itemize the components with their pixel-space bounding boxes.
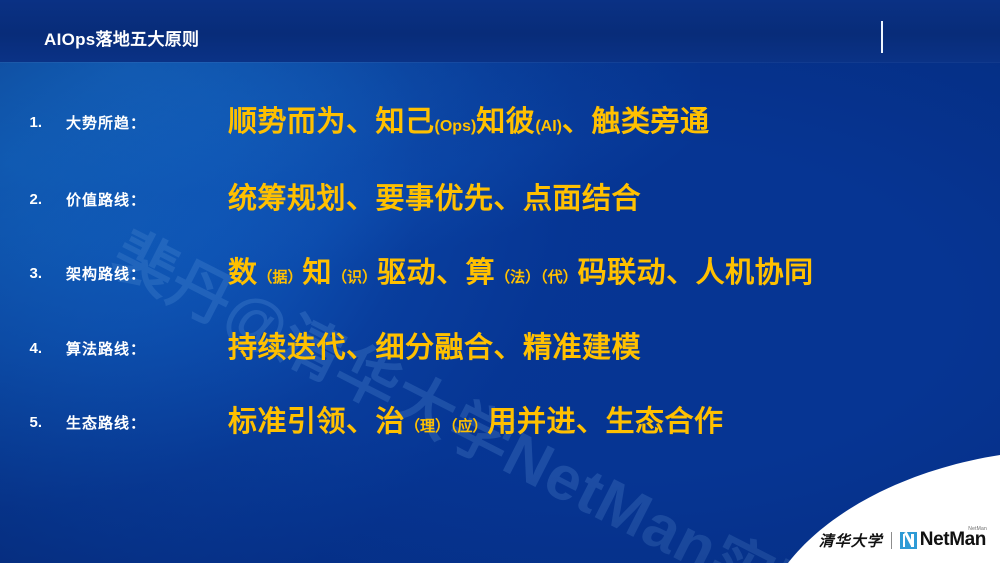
principle-value: 数（据）知（识）驱动、算（法）（代）码联动、人机协同	[228, 259, 1000, 288]
principle-value-run: （代）	[540, 269, 578, 286]
principle-value-run: (Ops)	[435, 118, 477, 135]
netman-slash-icon	[904, 531, 914, 546]
principles-list: 1. 大势所趋： 顺势而为、知己(Ops)知彼(AI)、触类旁通 2. 价值路线…	[0, 62, 1000, 482]
principle-value-run: 统筹规划、要事优先、点面结合	[228, 183, 641, 215]
slide-canvas: 裴丹@清华大学NetMan实验室 AIOps落地五大原则 1. 大势所趋： 顺势…	[0, 0, 1000, 563]
principle-value-run: （识）	[332, 269, 377, 286]
tsinghua-logo-text: 清华大学	[819, 530, 883, 551]
principle-value-run: 驱动、算	[377, 257, 495, 289]
principle-row: 5. 生态路线： 标准引领、治（理）（应）用并进、生态合作	[0, 396, 1000, 448]
netman-mark-icon	[900, 532, 917, 549]
principle-value-run: （据）	[258, 269, 303, 286]
slide-title: AIOps落地五大原则	[44, 25, 199, 50]
principle-value: 标准引领、治（理）（应）用并进、生态合作	[228, 408, 1000, 437]
principle-value: 统筹规划、要事优先、点面结合	[228, 185, 1000, 214]
principle-value-run: 标准引领、治	[228, 406, 405, 438]
principle-row: 3. 架构路线： 数（据）知（识）驱动、算（法）（代）码联动、人机协同	[0, 247, 1000, 299]
principle-number: 2.	[0, 191, 48, 208]
principle-value-run: 用并进、生态合作	[488, 406, 724, 438]
principle-label: 价值路线：	[48, 189, 228, 210]
principle-value-run: 知彼	[476, 106, 535, 138]
principle-value-run: (AI)	[535, 118, 562, 135]
principle-value-run: 、触类旁通	[562, 106, 710, 138]
principle-value-run: 知	[303, 257, 333, 289]
principle-value-run: 持续迭代、细分融合、精准建模	[228, 332, 641, 364]
principle-number: 1.	[0, 114, 48, 131]
principle-value-run: （法）	[495, 269, 540, 286]
netman-logo-text: NetMan	[920, 529, 986, 551]
principle-label: 算法路线：	[48, 338, 228, 359]
principle-row: 2. 价值路线： 统筹规划、要事优先、点面结合	[0, 173, 1000, 225]
footer-logo-divider	[891, 532, 892, 549]
principle-value-run: （应）	[450, 418, 488, 435]
principle-value-run: 数	[228, 257, 258, 289]
netman-logo-tagline: NetMan	[968, 526, 987, 532]
principle-number: 4.	[0, 340, 48, 357]
principle-value: 持续迭代、细分融合、精准建模	[228, 334, 1000, 363]
principle-value-run: 码联动、人机协同	[578, 257, 814, 289]
principle-value-run: 顺势而为、知己	[228, 106, 435, 138]
netman-logo: NetMan NetMan	[900, 529, 986, 551]
principle-number: 5.	[0, 414, 48, 431]
principle-label: 架构路线：	[48, 263, 228, 284]
principle-row: 4. 算法路线： 持续迭代、细分融合、精准建模	[0, 322, 1000, 374]
principle-label: 生态路线：	[48, 412, 228, 433]
header-tick-marker	[881, 21, 883, 53]
principle-value-run: （理）	[405, 418, 450, 435]
footer-logo-group: 清华大学 NetMan NetMan	[819, 529, 986, 551]
principle-value: 顺势而为、知己(Ops)知彼(AI)、触类旁通	[228, 108, 1000, 137]
principle-label: 大势所趋：	[48, 112, 228, 133]
principle-row: 1. 大势所趋： 顺势而为、知己(Ops)知彼(AI)、触类旁通	[0, 96, 1000, 148]
principle-number: 3.	[0, 265, 48, 282]
